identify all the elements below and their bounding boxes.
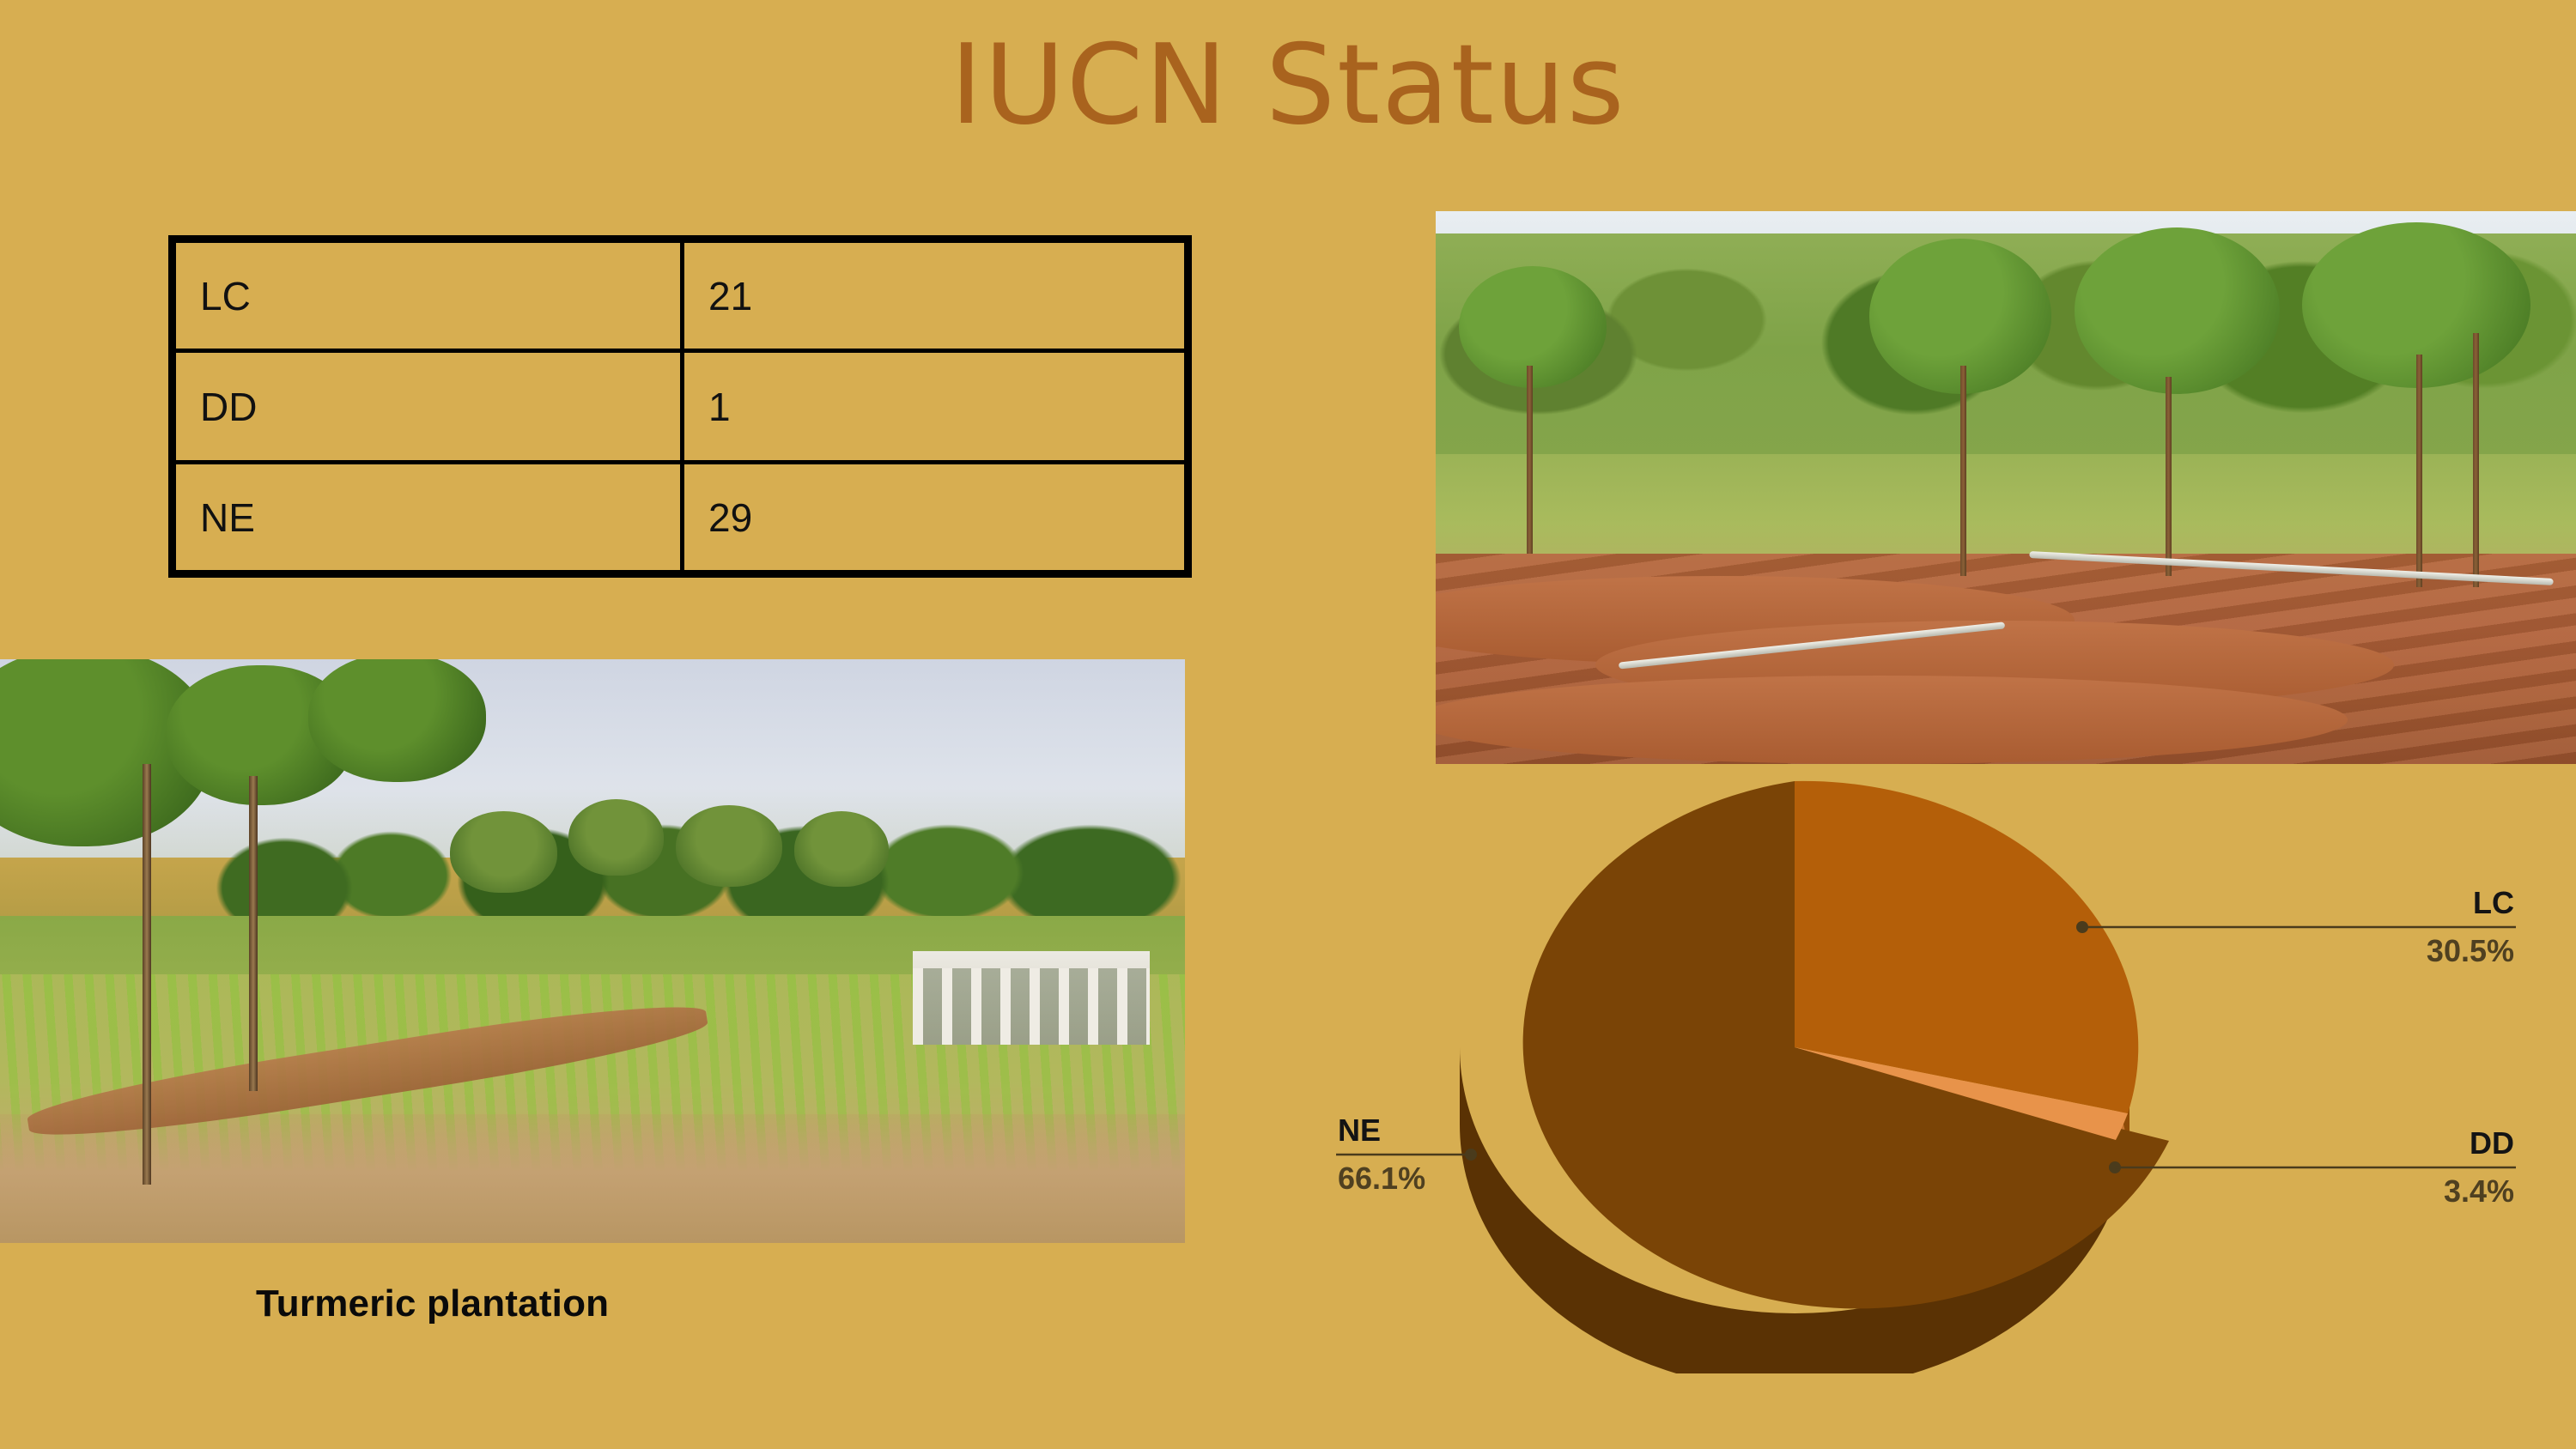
table-cell-count: 1 [683, 351, 1188, 463]
photo-white-pillar-structure [913, 951, 1150, 1045]
pie-top-face [1523, 781, 2169, 1309]
table-cell-status: DD [173, 351, 683, 463]
table-cell-count: 29 [683, 463, 1188, 574]
pie-label-lc-name: LC [2473, 885, 2514, 920]
table-cell-status: NE [173, 463, 683, 574]
table-row: NE 29 [173, 463, 1188, 574]
photo-tree-trunk [2166, 377, 2172, 576]
pie-label-dd-name: DD [2470, 1125, 2514, 1161]
photo-turmeric-plantation [0, 659, 1185, 1243]
photo-soil-ridge [1436, 676, 2348, 764]
table-row: DD 1 [173, 351, 1188, 463]
photo-tree-trunk [249, 776, 258, 1091]
photo-palm-tree [676, 805, 782, 887]
photo-caption-turmeric: Turmeric plantation [256, 1282, 609, 1325]
photo-tree-trunk [2416, 355, 2422, 586]
photo-foreground-dirt [0, 1114, 1185, 1243]
pie-label-dd-pct: 3.4% [2444, 1173, 2514, 1209]
page-title: IUCN Status [0, 22, 2576, 149]
pie-label-ne-name: NE [1338, 1113, 1381, 1148]
table-row: LC 21 [173, 239, 1188, 351]
photo-palm-tree [450, 811, 556, 893]
photo-tree-canopy [2075, 227, 2280, 393]
pie-label-ne-pct: 66.1% [1338, 1161, 1425, 1196]
iucn-status-pie-chart: LC 30.5% DD 3.4% NE 66.1% [1305, 755, 2576, 1373]
photo-tree-trunk [143, 764, 151, 1185]
photo-palm-tree [794, 811, 889, 887]
photo-tree-canopy [308, 659, 486, 782]
photo-palm-tree [568, 799, 663, 875]
pie-label-lc-pct: 30.5% [2427, 933, 2514, 968]
photo-tree-trunk [2473, 333, 2479, 587]
photo-tree-trunk [1527, 366, 1533, 554]
iucn-status-table: LC 21 DD 1 NE 29 [168, 235, 1192, 578]
table-cell-count: 21 [683, 239, 1188, 351]
photo-field-red-soil [1436, 211, 2576, 764]
photo-tree-trunk [1960, 366, 1966, 576]
table-cell-status: LC [173, 239, 683, 351]
